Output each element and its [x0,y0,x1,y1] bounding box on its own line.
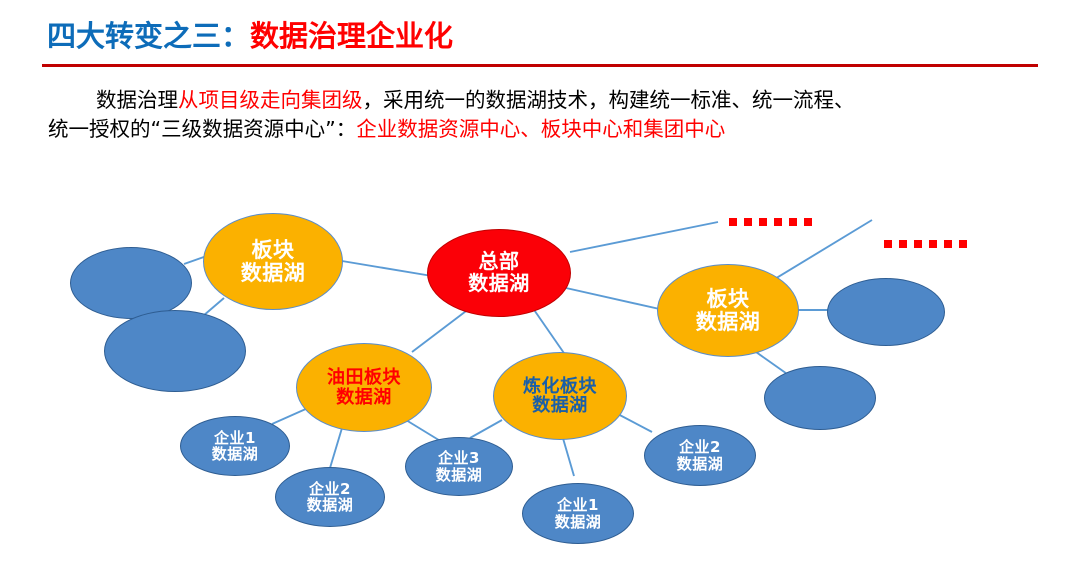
node-enterprise-3[interactable]: 企业3 数据湖 [405,437,513,496]
node-enterprise-1-right-line2: 数据湖 [555,514,602,530]
ellipsis-dot [774,218,782,226]
node-headquarters-line2: 数据湖 [468,273,530,295]
node-enterprise-3-line2: 数据湖 [436,467,483,483]
node-enterprise-2-left-line1: 企业2 [309,481,351,497]
node-enterprise-2-left-line2: 数据湖 [307,497,354,513]
edge-oilfield-enterprise1left [272,408,308,424]
node-enterprise-1-left-line1: 企业1 [214,430,256,446]
ellipsis-dot [729,218,737,226]
ellipsis-dot [929,240,937,248]
page-title-prefix: 四大转变之三： [47,19,250,53]
ellipsis-dot [944,240,952,248]
edge-headquarters-refining [530,304,566,356]
body-line-1-part-c: ，采用统一的数据湖技术，构建统一标准、统一流程、 [363,88,855,112]
node-sector-left-line2: 数据湖 [241,262,306,285]
node-enterprise-1-left[interactable]: 企业1 数据湖 [180,416,290,476]
page-title: 四大转变之三：数据治理企业化 [47,16,1047,62]
slide-canvas: 四大转变之三：数据治理企业化 数据治理从项目级走向集团级，采用统一的数据湖技术，… [0,0,1080,576]
edge-headquarters-ellipsis-upper-left [570,222,718,252]
node-enterprise-1-left-line2: 数据湖 [212,446,259,462]
node-refining-line2: 数据湖 [532,396,588,415]
node-oilfield-line2: 数据湖 [336,388,392,407]
node-sector-right-line1: 板块 [707,288,750,311]
edge-headquarters-sectorright [566,288,664,310]
ellipsis-dot [899,240,907,248]
node-sector-left-line1: 板块 [252,239,295,262]
body-line-1-part-a: 数据治理 [96,88,178,112]
node-enterprise-2-right-line1: 企业2 [679,439,721,455]
body-line-2-emphasis: 企业数据资源中心、板块中心和集团中心 [356,117,725,141]
node-refining-line1: 炼化板块 [523,377,597,396]
ellipsis-dot [914,240,922,248]
body-line-1-emphasis: 从项目级走向集团级 [178,88,363,112]
ellipsis-upper-left [729,218,812,226]
node-sector-right[interactable]: 板块 数据湖 [657,264,799,357]
edge-oilfield-enterprise2left [330,428,342,468]
node-sector-right-line2: 数据湖 [696,311,761,334]
node-enterprise-1-right-line1: 企业1 [557,497,599,513]
ellipsis-dot [759,218,767,226]
ellipsis-dot [804,218,812,226]
edge-sectorleft-headquarters [336,260,432,276]
node-oilfield-line1: 油田板块 [327,368,401,387]
node-enterprise-3-line1: 企业3 [438,450,480,466]
page-title-highlight: 数据治理企业化 [250,19,453,53]
node-enterprise-2-right-line2: 数据湖 [677,456,724,472]
ellipsis-dot [884,240,892,248]
node-plain-left-bottom[interactable] [104,310,246,392]
node-sector-left[interactable]: 板块 数据湖 [203,213,343,310]
node-headquarters[interactable]: 总部 数据湖 [427,229,571,317]
ellipsis-upper-right [884,240,967,248]
node-enterprise-1-right[interactable]: 企业1 数据湖 [522,483,634,544]
body-line-2-part-a: 统一授权的“三级数据资源中心”： [48,117,356,141]
node-plain-left-top[interactable] [70,247,192,319]
node-plain-right-bottom[interactable] [764,366,876,430]
node-plain-right-top[interactable] [827,278,945,346]
body-line-2: 统一授权的“三级数据资源中心”：企业数据资源中心、板块中心和集团中心 [48,115,1048,144]
node-refining-sector[interactable]: 炼化板块 数据湖 [493,352,627,440]
ellipsis-dot [789,218,797,226]
ellipsis-dot [959,240,967,248]
body-line-1: 数据治理从项目级走向集团级，采用统一的数据湖技术，构建统一标准、统一流程、 [48,86,1048,115]
ellipsis-dot [744,218,752,226]
title-divider [42,64,1038,67]
body-paragraph: 数据治理从项目级走向集团级，采用统一的数据湖技术，构建统一标准、统一流程、 统一… [48,86,1048,144]
edge-refining-enterprise3 [470,420,502,438]
node-headquarters-line1: 总部 [479,251,520,273]
node-oilfield-sector[interactable]: 油田板块 数据湖 [296,343,432,432]
data-lake-architecture-diagram: 板块 数据湖 总部 数据湖 板块 数据湖 油田板块 数据湖 炼化板块 数据湖 企… [0,180,1080,576]
node-enterprise-2-left[interactable]: 企业2 数据湖 [275,467,385,527]
node-enterprise-2-right[interactable]: 企业2 数据湖 [644,425,756,486]
